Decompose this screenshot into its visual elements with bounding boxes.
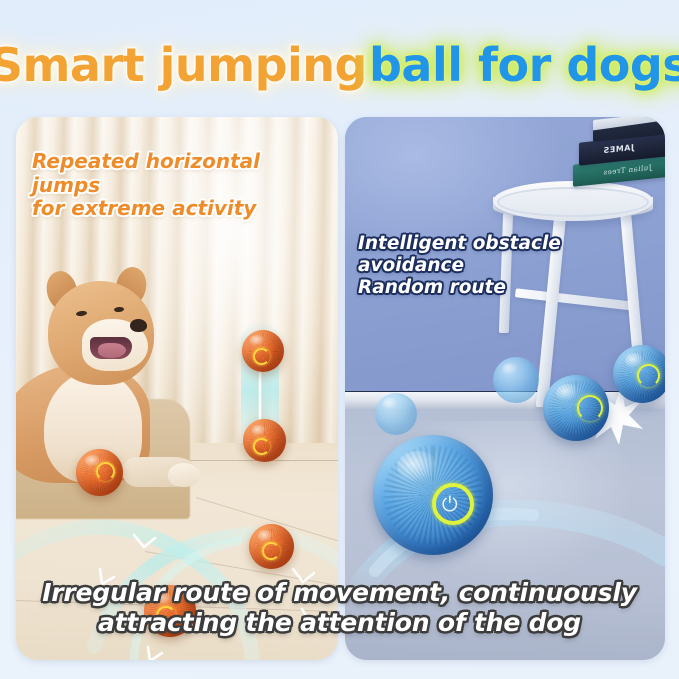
ball-blue-large-front: ⏻ <box>373 435 493 555</box>
table-rim <box>497 187 649 217</box>
book-navy-title: JAMES <box>603 143 634 155</box>
bottom-caption: Irregular route of movement, continuousl… <box>0 578 679 637</box>
ball-ghost-upper <box>493 357 539 403</box>
page-title: Smart jumping ball for dogs <box>0 34 679 96</box>
ball-orange-jump-bottom <box>243 419 286 462</box>
ball-blue-far-right <box>613 345 665 403</box>
ball-ghost-left <box>375 393 417 435</box>
power-symbol-icon: ⏻ <box>442 495 458 515</box>
book-green-title: Julian Trees <box>603 164 652 177</box>
page-title-part-1: Smart jumping <box>0 38 367 92</box>
page-title-part-2: ball for dogs <box>369 38 679 92</box>
left-panel-caption: Repeated horizontal jumps for extreme ac… <box>32 150 332 221</box>
ball-orange-floor-right <box>249 524 294 569</box>
ball-orange-by-dog <box>76 449 123 496</box>
ball-blue-mid-right <box>543 375 609 441</box>
ball-orange-jump-top <box>242 330 284 372</box>
right-panel-caption: Intelligent obstacle avoidance Random ro… <box>358 233 665 298</box>
